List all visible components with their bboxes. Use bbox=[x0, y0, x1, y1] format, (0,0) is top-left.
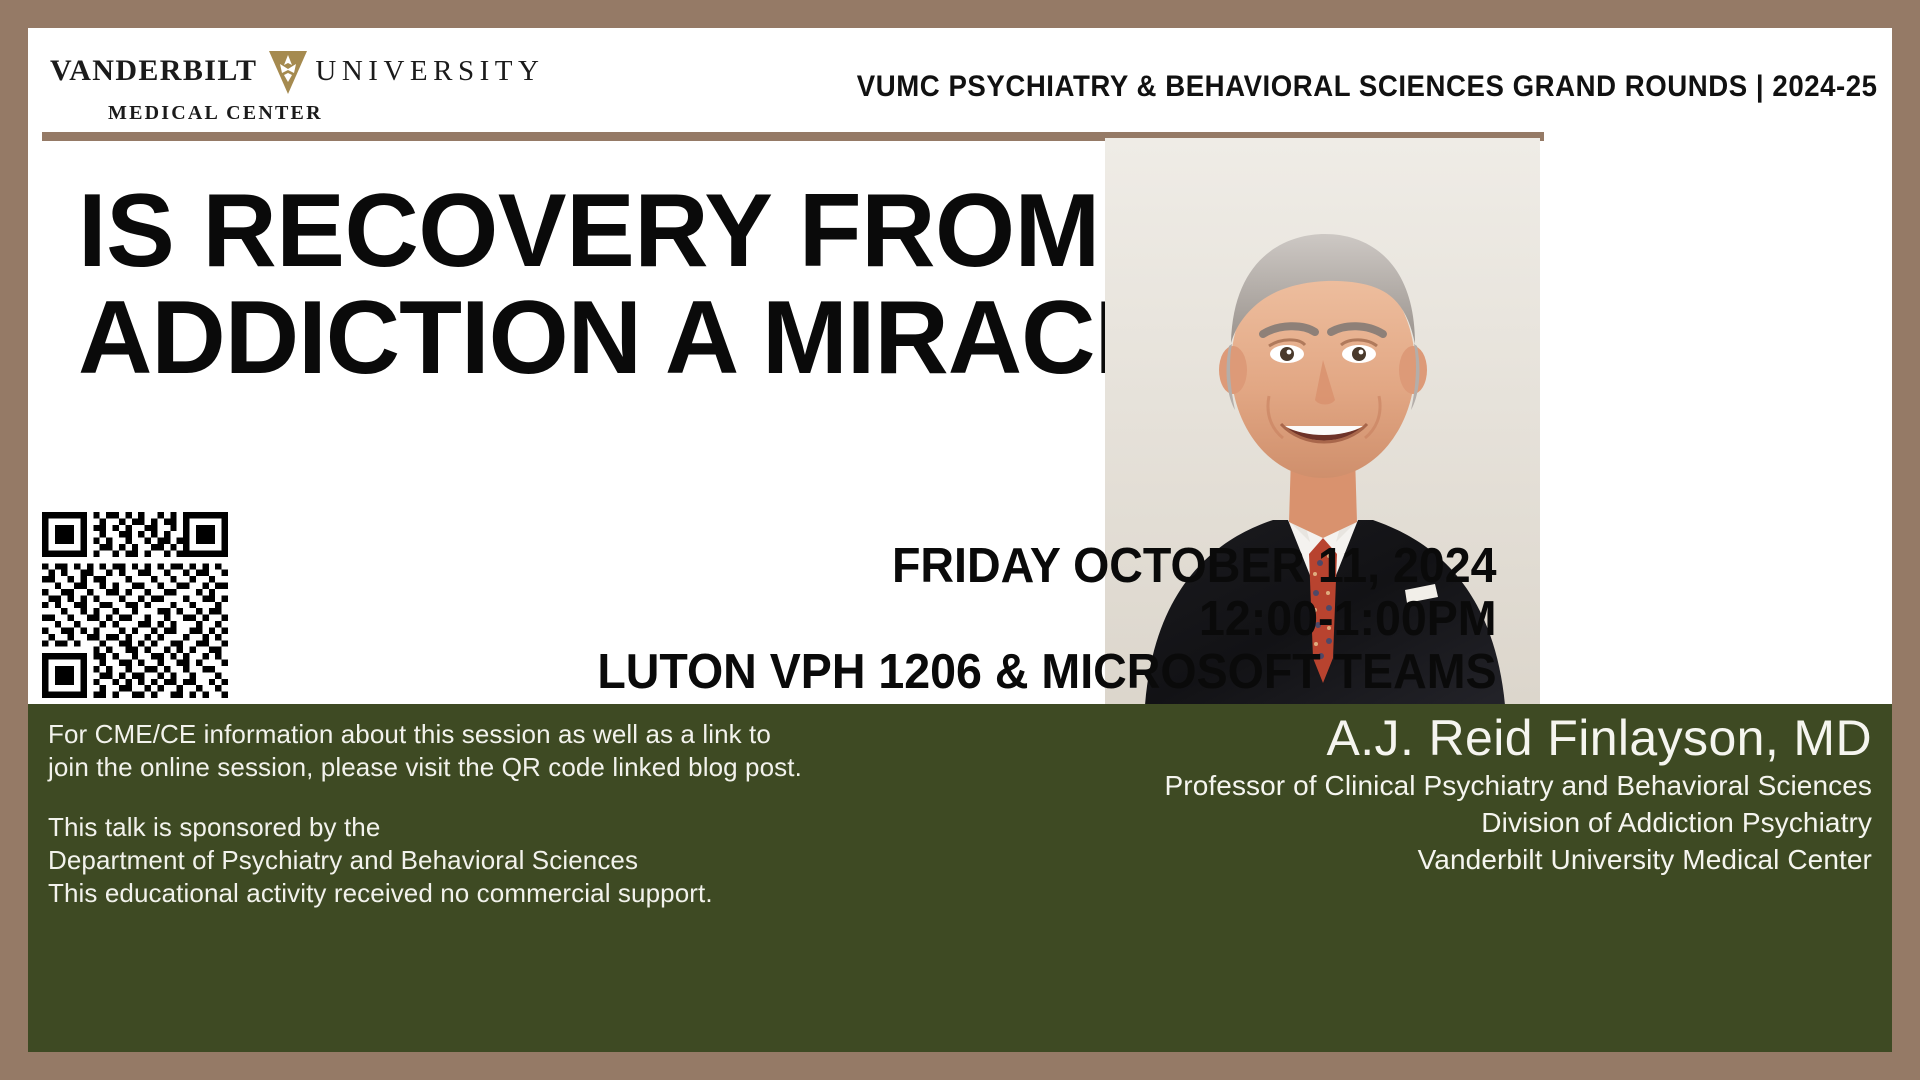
qr-code[interactable] bbox=[42, 512, 228, 698]
grand-rounds-series-title: VUMC PSYCHIATRY & BEHAVIORAL SCIENCES GR… bbox=[857, 70, 1878, 104]
logo-vanderbilt-word: VANDERBILT bbox=[50, 56, 257, 86]
sponsor-line-3: This educational activity received no co… bbox=[48, 877, 802, 910]
vanderbilt-v-monogram-icon bbox=[267, 49, 309, 93]
poster-frame: VANDERBILT UNIVERSITY MEDICAL CENTER VUM… bbox=[0, 0, 1920, 1080]
cme-line-1: For CME/CE information about this sessio… bbox=[48, 718, 802, 751]
poster-canvas: VANDERBILT UNIVERSITY MEDICAL CENTER VUM… bbox=[28, 28, 1892, 1052]
event-location: LUTON VPH 1206 & MICROSOFT TEAMS bbox=[598, 646, 1497, 699]
logo-primary-row: VANDERBILT UNIVERSITY bbox=[50, 50, 450, 92]
vanderbilt-logo: VANDERBILT UNIVERSITY MEDICAL CENTER bbox=[50, 50, 450, 125]
page-title: IS RECOVERY FROM ADDICTION A MIRACLE? bbox=[78, 178, 1177, 392]
speaker-name: A.J. Reid Finlayson, MD bbox=[1165, 710, 1872, 767]
logo-university-word: UNIVERSITY bbox=[315, 57, 544, 86]
speaker-affiliation: Vanderbilt University Medical Center bbox=[1165, 841, 1872, 878]
sponsor-line-1: This talk is sponsored by the bbox=[48, 811, 802, 844]
title-line-1: IS RECOVERY FROM bbox=[78, 178, 1177, 285]
logo-medical-center-word: MEDICAL CENTER bbox=[50, 102, 450, 125]
event-time: 12:00-1:00PM bbox=[598, 593, 1497, 646]
title-line-2: ADDICTION A MIRACLE? bbox=[78, 285, 1177, 392]
cme-line-2: join the online session, please visit th… bbox=[48, 751, 802, 784]
sponsor-line-2: Department of Psychiatry and Behavioral … bbox=[48, 844, 802, 877]
footer-bar: For CME/CE information about this sessio… bbox=[28, 704, 1892, 1052]
speaker-title: Professor of Clinical Psychiatry and Beh… bbox=[1165, 767, 1872, 804]
event-details: FRIDAY OCTOBER 11, 2024 12:00-1:00PM LUT… bbox=[598, 540, 1497, 699]
speaker-division: Division of Addiction Psychiatry bbox=[1165, 804, 1872, 841]
speaker-info: A.J. Reid Finlayson, MD Professor of Cli… bbox=[1165, 710, 1872, 879]
event-date: FRIDAY OCTOBER 11, 2024 bbox=[598, 540, 1497, 593]
footer-left-text: For CME/CE information about this sessio… bbox=[48, 718, 802, 910]
